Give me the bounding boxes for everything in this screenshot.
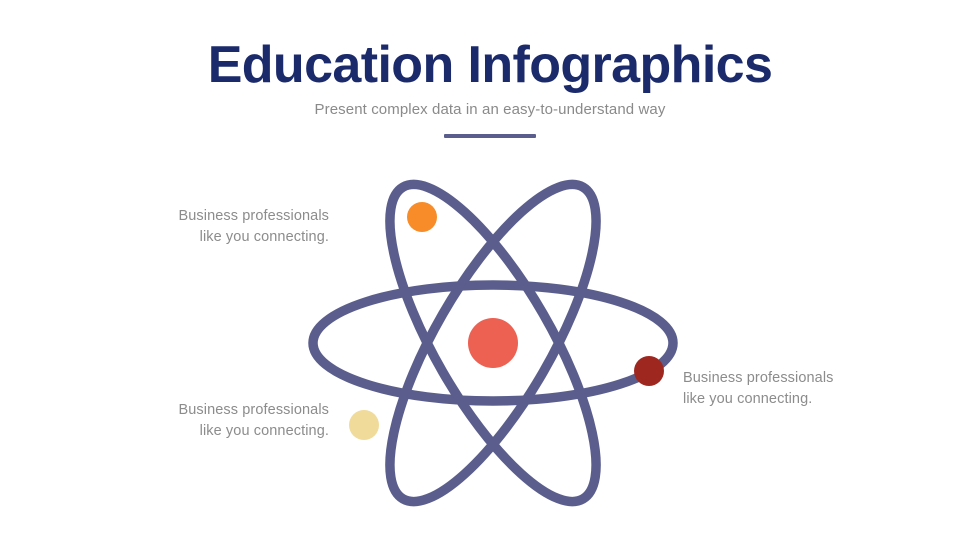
page-subtitle: Present complex data in an easy-to-under…: [0, 100, 980, 120]
callout-right: Business professionals like you connecti…: [683, 368, 883, 410]
callout-right-line-2: like you connecting.: [683, 389, 883, 410]
nucleus: [468, 318, 518, 368]
callout-bottom-left-line-1: Business professionals: [139, 400, 329, 421]
atom-icon: [293, 143, 693, 543]
electron-cream: [349, 410, 379, 440]
callout-right-line-1: Business professionals: [683, 368, 883, 389]
callout-top-left: Business professionals like you connecti…: [139, 206, 329, 248]
atom-orbits-diagram: [293, 143, 693, 543]
header-block: Education Infographics Present complex d…: [0, 34, 980, 138]
callout-top-left-line-1: Business professionals: [139, 206, 329, 227]
page-title: Education Infographics: [0, 34, 980, 96]
slide-canvas: Education Infographics Present complex d…: [0, 0, 980, 551]
callout-top-left-line-2: like you connecting.: [139, 227, 329, 248]
electron-orange: [407, 202, 437, 232]
title-divider: [444, 134, 536, 138]
callout-bottom-left-line-2: like you connecting.: [139, 421, 329, 442]
callout-bottom-left: Business professionals like you connecti…: [139, 400, 329, 442]
electron-dark-red: [634, 356, 664, 386]
